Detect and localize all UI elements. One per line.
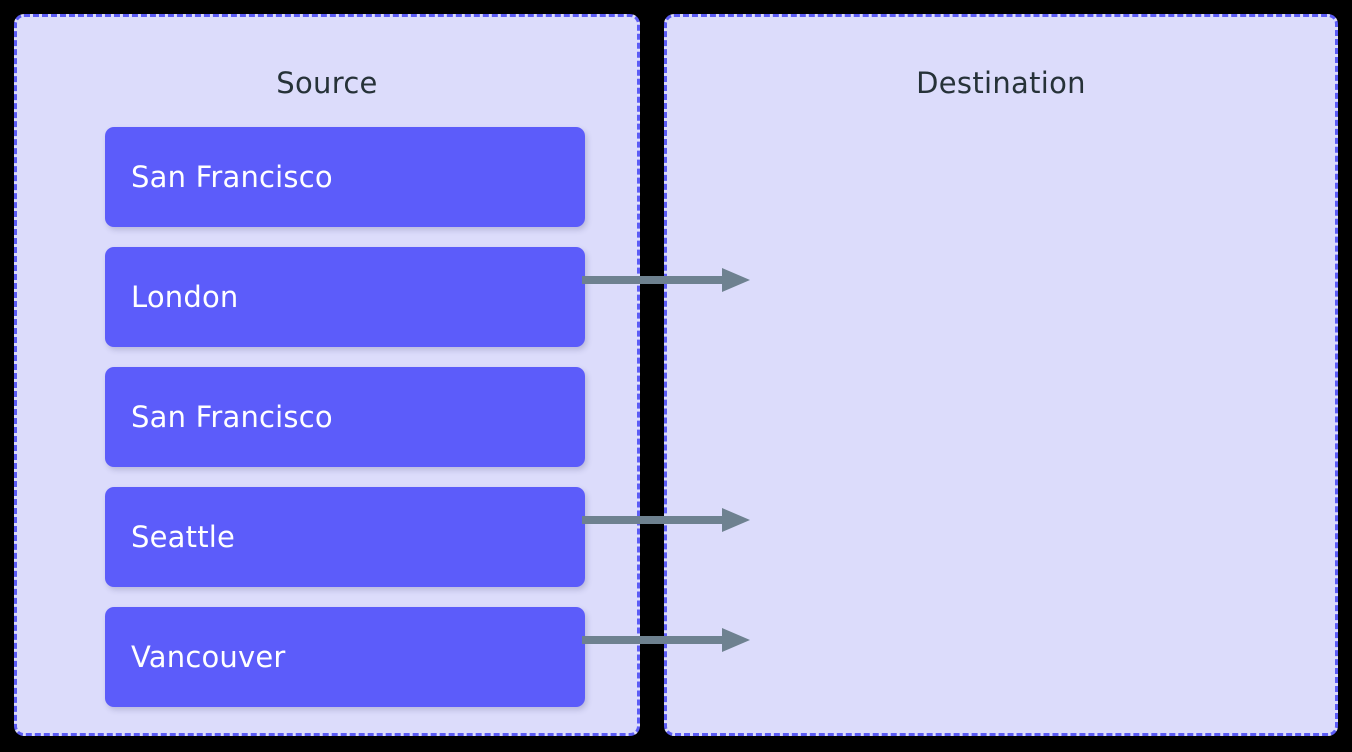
destination-panel: Destination London Seattle Vancouver bbox=[664, 14, 1338, 736]
source-card-3[interactable]: Seattle bbox=[105, 487, 585, 587]
source-card-1[interactable]: London bbox=[105, 247, 585, 347]
source-card-2-label: San Francisco bbox=[105, 400, 333, 434]
source-card-0-label: San Francisco bbox=[105, 160, 333, 194]
destination-panel-title: Destination bbox=[667, 63, 1335, 103]
source-card-4-label: Vancouver bbox=[105, 640, 286, 674]
source-card-3-label: Seattle bbox=[105, 520, 235, 554]
source-panel-title: Source bbox=[17, 63, 637, 103]
source-card-1-label: London bbox=[105, 280, 239, 314]
source-card-4[interactable]: Vancouver bbox=[105, 607, 585, 707]
source-card-0[interactable]: San Francisco bbox=[105, 127, 585, 227]
source-panel: Source San Francisco London San Francisc… bbox=[14, 14, 640, 736]
source-card-2[interactable]: San Francisco bbox=[105, 367, 585, 467]
mapping-diagram: Source San Francisco London San Francisc… bbox=[0, 0, 1352, 752]
